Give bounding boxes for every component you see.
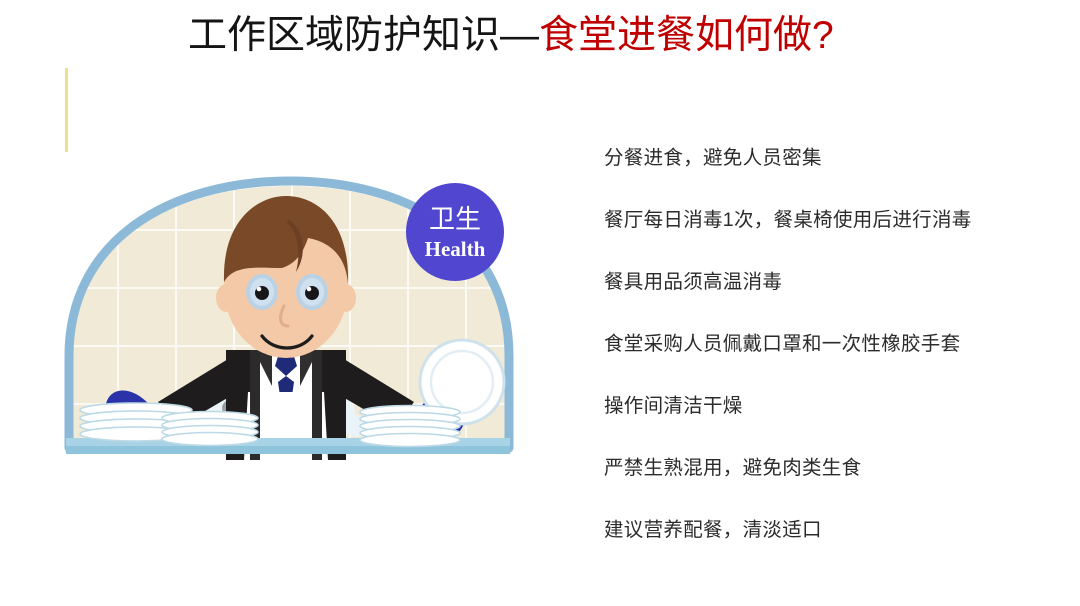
page-title-black-part: 工作区域防护知识— bbox=[188, 14, 539, 57]
slide-canvas: 工作区域防护知识—食堂进餐如何做? bbox=[0, 0, 1080, 606]
list-item: 餐具用品须高温消毒 bbox=[604, 270, 1080, 294]
list-item: 建议营养配餐，清淡适口 bbox=[604, 518, 1080, 542]
health-badge: 卫生 Health bbox=[406, 183, 504, 281]
kitchen-illustration: 卫生 Health bbox=[58, 160, 528, 460]
list-item: 分餐进食，避免人员密集 bbox=[604, 146, 1080, 170]
page-title-red-part: 食堂进餐如何做? bbox=[539, 14, 834, 57]
guidelines-list: 分餐进食，避免人员密集 餐厅每日消毒1次，餐桌椅使用后进行消毒 餐具用品须高温消… bbox=[604, 146, 1080, 542]
list-item: 操作间清洁干燥 bbox=[604, 394, 1080, 418]
health-badge-cn: 卫生 bbox=[429, 204, 481, 234]
page-title: 工作区域防护知识—食堂进餐如何做? bbox=[188, 10, 988, 66]
plate-stack-right bbox=[360, 406, 460, 447]
list-item: 餐厅每日消毒1次，餐桌椅使用后进行消毒 bbox=[604, 208, 1080, 232]
plate-stack-middle bbox=[162, 412, 258, 446]
ear-left bbox=[216, 284, 236, 312]
accent-bar bbox=[65, 68, 68, 152]
health-badge-en: Health bbox=[425, 237, 486, 261]
list-item: 食堂采购人员佩戴口罩和一次性橡胶手套 bbox=[604, 332, 1080, 356]
list-item: 严禁生熟混用，避免肉类生食 bbox=[604, 456, 1080, 480]
ear-right bbox=[336, 284, 356, 312]
